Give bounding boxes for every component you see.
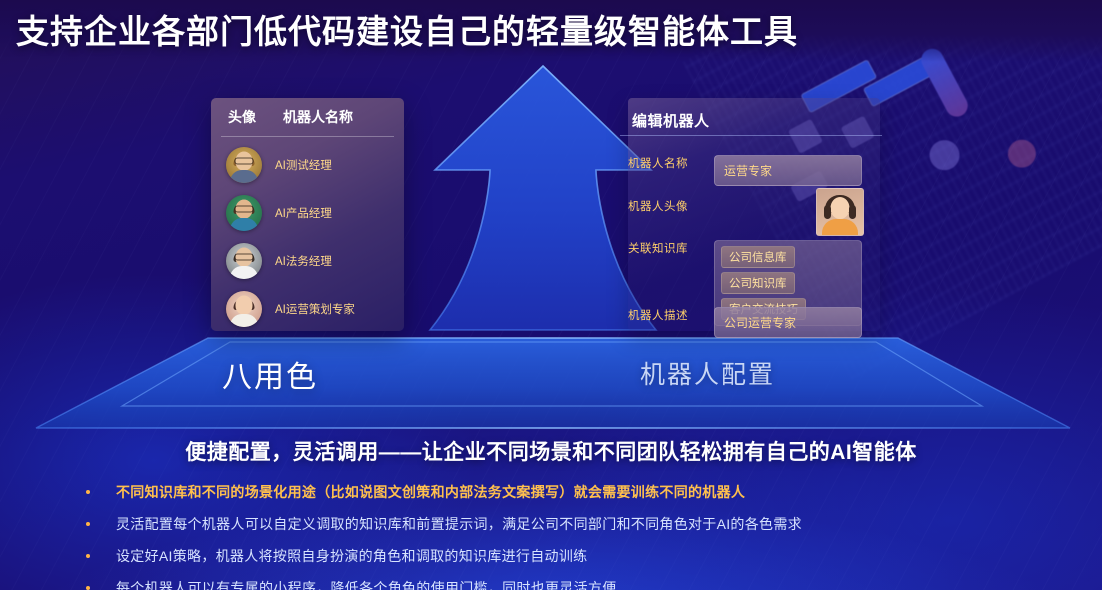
bullet-dot-icon	[86, 522, 90, 526]
slide-title-bar: 支持企业各部门低代码建设自己的轻量级智能体工具	[0, 0, 1102, 58]
bullet-text: 灵活配置每个机器人可以自定义调取的知识库和前置提示词，满足公司不同部门和不同角色…	[116, 514, 802, 534]
bullet-text: 每个机器人可以有专属的小程序，降低各个角色的使用门槛，同时也更灵活方便	[116, 578, 617, 590]
avatar-ai-product-manager	[226, 195, 262, 231]
field-label-robot-name: 机器人名称	[628, 155, 714, 171]
bullet-item: 灵活配置每个机器人可以自定义调取的知识库和前置提示词，满足公司不同部门和不同角色…	[86, 514, 1102, 534]
bullet-list: 不同知识库和不同的场景化用途（比如说图文创策和内部法务文案撰写）就会需要训练不同…	[0, 482, 1102, 590]
knowledge-tag[interactable]: 公司信息库	[721, 246, 795, 268]
robot-name: AI法务经理	[275, 253, 332, 269]
list-item[interactable]: AI运营策划专家	[211, 285, 404, 331]
robot-list-header: 头像 机器人名称	[211, 98, 404, 136]
bullet-dot-icon	[86, 554, 90, 558]
robot-name-input[interactable]: 运营专家	[714, 155, 862, 186]
robot-description-input[interactable]: 公司运营专家	[714, 307, 862, 338]
field-label-knowledge-base: 关联知识库	[628, 240, 714, 256]
bullet-item: 不同知识库和不同的场景化用途（比如说图文创策和内部法务文案撰写）就会需要训练不同…	[86, 482, 1102, 502]
field-label-robot-avatar: 机器人头像	[628, 198, 714, 214]
robot-editor-title: 编辑机器人	[632, 110, 710, 131]
platform-label-right: 机器人配置	[640, 355, 775, 391]
bottom-headline: 便捷配置，灵活调用——让企业不同场景和不同团队轻松拥有自己的AI智能体	[0, 436, 1102, 466]
robot-list-card: 头像 机器人名称 AI测试经理	[211, 98, 404, 331]
avatar-ai-test-manager	[226, 147, 262, 183]
column-header-avatar: 头像	[211, 107, 273, 127]
knowledge-tag[interactable]: 公司知识库	[721, 272, 795, 294]
robot-name: AI测试经理	[275, 157, 332, 173]
bullet-item: 每个机器人可以有专属的小程序，降低各个角色的使用门槛，同时也更灵活方便	[86, 578, 1102, 590]
bullet-text: 不同知识库和不同的场景化用途（比如说图文创策和内部法务文案撰写）就会需要训练不同…	[116, 482, 745, 502]
page-title: 支持企业各部门低代码建设自己的轻量级智能体工具	[16, 5, 798, 53]
avatar-ai-legal-manager	[226, 243, 262, 279]
platform-label-left: 八用色	[222, 352, 318, 396]
bullet-text: 设定好AI策略，机器人将按照自身扮演的角色和调取的知识库进行自动训练	[116, 546, 587, 566]
bullet-dot-icon	[86, 586, 90, 590]
list-item[interactable]: AI测试经理	[211, 141, 404, 189]
platform-base	[30, 330, 1075, 435]
robot-name: AI产品经理	[275, 205, 332, 221]
column-header-name: 机器人名称	[273, 107, 404, 127]
robot-list: AI测试经理 AI产品经理	[211, 137, 404, 331]
bullet-item: 设定好AI策略，机器人将按照自身扮演的角色和调取的知识库进行自动训练	[86, 546, 1102, 566]
list-item[interactable]: AI产品经理	[211, 189, 404, 237]
slide-canvas: 支持企业各部门低代码建设自己的轻量级智能体工具	[0, 0, 1102, 590]
robot-editor-divider	[620, 135, 882, 136]
field-label-robot-description: 机器人描述	[628, 307, 714, 323]
robot-avatar-thumbnail[interactable]	[816, 188, 864, 236]
avatar-ai-operations-expert	[226, 291, 262, 327]
field-row-robot-description: 机器人描述 公司运营专家	[628, 307, 880, 338]
robot-name: AI运营策划专家	[275, 301, 355, 317]
list-item[interactable]: AI法务经理	[211, 237, 404, 285]
bullet-dot-icon	[86, 490, 90, 494]
bottom-section: 便捷配置，灵活调用——让企业不同场景和不同团队轻松拥有自己的AI智能体 不同知识…	[0, 436, 1102, 590]
field-row-robot-avatar: 机器人头像	[628, 198, 880, 236]
field-row-robot-name: 机器人名称 运营专家	[628, 155, 880, 186]
